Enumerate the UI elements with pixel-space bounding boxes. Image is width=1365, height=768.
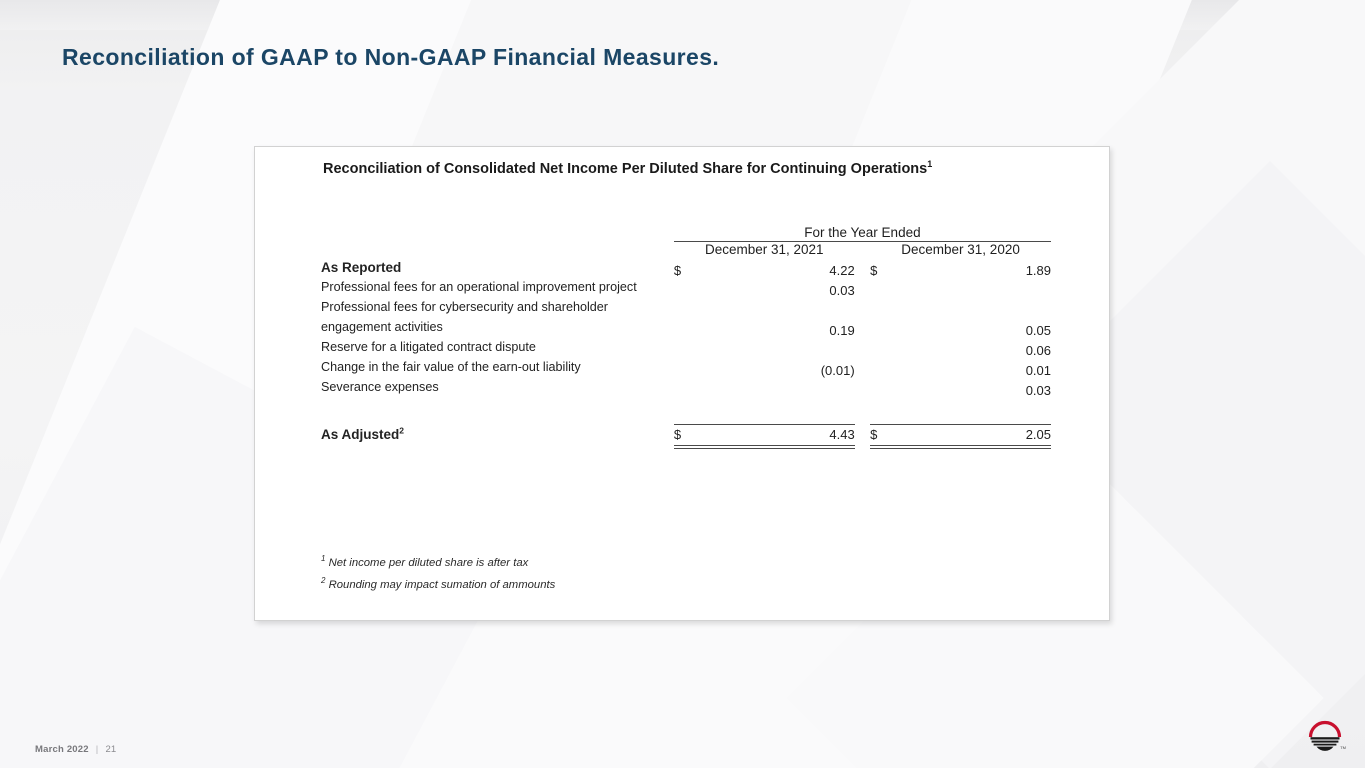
cell-gap (855, 298, 870, 338)
cell-gap (855, 446, 870, 449)
cell-currency-2020 (870, 358, 899, 378)
logo-bar-4 (1317, 747, 1334, 751)
slide-canvas: Reconciliation of GAAP to Non-GAAP Finan… (0, 0, 1365, 768)
cell-gap (855, 257, 870, 278)
cell-currency-2020 (870, 338, 899, 358)
as-adjusted-footnote-marker: 2 (399, 426, 404, 436)
table-row: As Reported $ 4.22 $ 1.89 (321, 257, 1051, 278)
cell-currency-2021 (674, 358, 703, 378)
cell-currency-2021 (674, 338, 703, 358)
logo-arch-shape (1311, 723, 1340, 738)
row-label-text: As Reported (321, 260, 401, 275)
cell-gap (855, 358, 870, 378)
trademark-mark: TM (1340, 745, 1346, 750)
row-label-earn-out-liability: Change in the fair value of the earn-out… (321, 358, 674, 378)
row-label-professional-fees-cybersecurity: Professional fees for cybersecurity and … (321, 298, 674, 338)
table-header-dates-row: December 31, 2021 December 31, 2020 (321, 242, 1051, 258)
table-heading-text: Reconciliation of Consolidated Net Incom… (323, 161, 927, 177)
cell-currency-2021 (674, 278, 703, 298)
table-heading-footnote-marker: 1 (927, 159, 932, 169)
footer-separator: | (96, 744, 99, 755)
background-top-band (0, 0, 1365, 30)
column-header-2020: December 31, 2020 (870, 242, 1051, 258)
table-row: Severance expenses 0.03 (321, 378, 1051, 398)
footnote-2-text: Rounding may impact sumation of ammounts (329, 579, 556, 591)
cell-value-2021 (703, 338, 855, 358)
cell-currency-2020: $ (870, 257, 899, 278)
row-label-reserve-litigated-dispute: Reserve for a litigated contract dispute (321, 338, 674, 358)
table-header-span-row: For the Year Ended (321, 225, 1051, 240)
cell-gap (855, 424, 870, 445)
footnote-1-marker: 1 (321, 554, 325, 563)
spacer-cell (855, 242, 870, 258)
column-header-2021: December 31, 2021 (674, 242, 855, 258)
cell-value-2021: 4.22 (703, 257, 855, 278)
cell-gap (855, 378, 870, 398)
cell-value-2021: (0.01) (703, 358, 855, 378)
cell-value-2020: 0.01 (899, 358, 1051, 378)
logo-bar-3 (1314, 744, 1337, 746)
row-label-as-adjusted: As Adjusted2 (321, 424, 674, 445)
footnote-1-text: Net income per diluted share is after ta… (329, 557, 529, 569)
row-label-severance-expenses: Severance expenses (321, 378, 674, 398)
cell-value-2020: 0.03 (899, 378, 1051, 398)
row-label-professional-fees-operational: Professional fees for an operational imp… (321, 278, 674, 298)
row-label-as-reported: As Reported (321, 257, 674, 278)
slide-footer: March 2022|21 (35, 744, 116, 755)
cell-currency-2021: $ (674, 257, 703, 278)
header-for-the-year-ended: For the Year Ended (674, 225, 1051, 240)
cell-currency-2020 (870, 378, 899, 398)
cell-currency-2021 (674, 378, 703, 398)
cell-value-2021: 0.19 (703, 298, 855, 338)
cell-gap (855, 278, 870, 298)
cell-value-2020: 0.06 (899, 338, 1051, 358)
cell-value-2021 (703, 378, 855, 398)
company-logo: TM (1303, 712, 1347, 756)
total-currency-2020: $ (870, 424, 899, 445)
financial-table-card: Reconciliation of Consolidated Net Incom… (254, 146, 1110, 621)
cell-value-2021: 0.03 (703, 278, 855, 298)
table-total-row: As Adjusted2 $ 4.43 $ 2.05 (321, 424, 1051, 445)
page-title: Reconciliation of GAAP to Non-GAAP Finan… (62, 44, 719, 71)
cell-value-2020: 1.89 (899, 257, 1051, 278)
footnote-2: 2 Rounding may impact sumation of ammoun… (321, 577, 555, 591)
total-currency-2021: $ (674, 424, 703, 445)
footnotes-block: 1 Net income per diluted share is after … (321, 555, 555, 599)
spacer-cell (321, 446, 674, 449)
total-double-rule-2020 (870, 446, 1051, 449)
spacer-cell (321, 225, 674, 240)
total-double-rule-row (321, 446, 1051, 449)
cell-value-2020: 0.05 (899, 298, 1051, 338)
footer-page-number: 21 (105, 744, 116, 755)
cell-currency-2020 (870, 298, 899, 338)
table-row: Professional fees for an operational imp… (321, 278, 1051, 298)
footnote-1: 1 Net income per diluted share is after … (321, 555, 555, 569)
table-heading: Reconciliation of Consolidated Net Incom… (323, 159, 932, 177)
reconciliation-table: For the Year Ended December 31, 2021 Dec… (321, 225, 1051, 449)
total-double-rule-2021 (674, 446, 855, 449)
row-label-text: As Adjusted (321, 427, 399, 442)
table-spacer-row (321, 398, 1051, 424)
cell-currency-2020 (870, 278, 899, 298)
table-row: Change in the fair value of the earn-out… (321, 358, 1051, 378)
footer-date: March 2022 (35, 744, 89, 755)
table-row: Reserve for a litigated contract dispute… (321, 338, 1051, 358)
table-row: Professional fees for cybersecurity and … (321, 298, 1051, 338)
cell-value-2020 (899, 278, 1051, 298)
cell-gap (855, 338, 870, 358)
footnote-2-marker: 2 (321, 576, 325, 585)
total-value-2020: 2.05 (899, 424, 1051, 445)
cell-currency-2021 (674, 298, 703, 338)
logo-bar-1 (1311, 737, 1340, 739)
total-value-2021: 4.43 (703, 424, 855, 445)
spacer-cell (321, 242, 674, 258)
spacer-cell (321, 398, 1051, 424)
logo-bar-2 (1312, 741, 1339, 743)
